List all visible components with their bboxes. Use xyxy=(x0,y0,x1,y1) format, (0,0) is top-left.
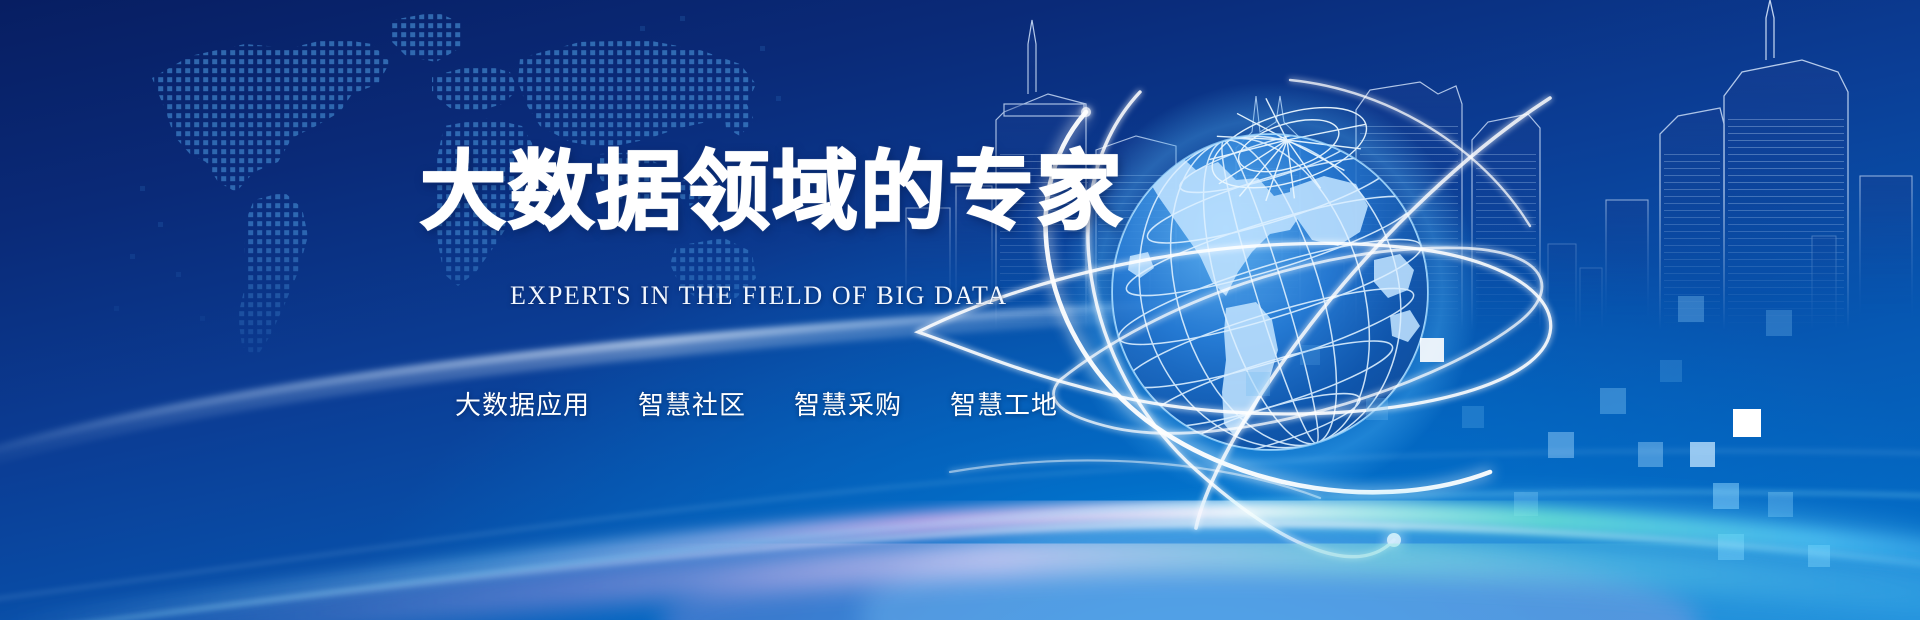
keyword-list: 大数据应用 智慧社区 智慧采购 智慧工地 xyxy=(455,385,1058,422)
banner-content: 大数据领域的专家 EXPERTS IN THE FIELD OF BIG DAT… xyxy=(0,0,1920,620)
keyword-item[interactable]: 智慧社区 xyxy=(638,385,746,422)
banner: 大数据领域的专家 EXPERTS IN THE FIELD OF BIG DAT… xyxy=(0,0,1920,620)
keyword-item[interactable]: 大数据应用 xyxy=(455,385,590,422)
page-subtitle: EXPERTS IN THE FIELD OF BIG DATA xyxy=(510,281,1008,311)
keyword-item[interactable]: 智慧采购 xyxy=(794,385,902,422)
keyword-item[interactable]: 智慧工地 xyxy=(950,385,1058,422)
page-title: 大数据领域的专家 xyxy=(420,148,1124,237)
